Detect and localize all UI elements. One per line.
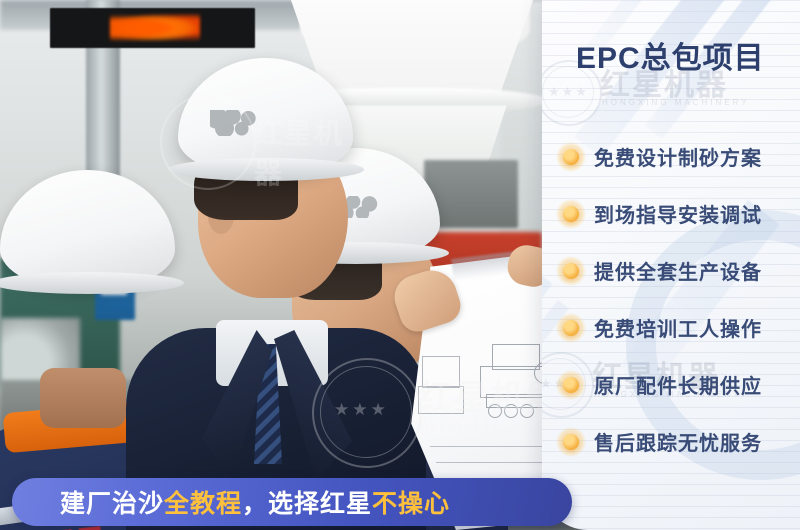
blueprint-guide-line <box>436 462 542 463</box>
list-item: 原厂配件长期供应 <box>556 356 800 413</box>
dot-bullet-icon <box>556 256 586 286</box>
list-item: 到场指导安装调试 <box>556 185 800 242</box>
dot-bullet-icon <box>556 427 586 457</box>
bottom-cta-banner: 建厂治沙全教程，选择红星不操心 <box>12 478 572 526</box>
banner-text: 建厂治沙全教程，选择红星不操心 <box>60 484 450 520</box>
feature-label: 售后跟踪无忧服务 <box>594 427 762 456</box>
blueprint-guide-line <box>430 446 550 447</box>
feature-label: 免费设计制砂方案 <box>594 142 762 171</box>
list-item: 免费培训工人操作 <box>556 299 800 356</box>
list-item: 售后跟踪无忧服务 <box>556 413 800 470</box>
worker-left-hard-hat <box>0 170 175 290</box>
photo-watermark-secondary: 红星机器 <box>160 94 350 224</box>
led-marquee-text <box>110 14 200 42</box>
banner-text-part2: ，选择红星 <box>242 490 372 518</box>
epc-services-panel: ★★★ 红星机器 HONGXING MACHINERY ★★★ 红星机器 HON… <box>542 0 800 530</box>
page-title: EPC总包项目 <box>576 42 796 75</box>
promo-banner-image: ★★★ 红星机器 HONGXING MACHINERY 红星机器 ★★★ 红星机… <box>0 0 800 530</box>
feature-label: 原厂配件长期供应 <box>594 370 762 399</box>
feature-label: 到场指导安装调试 <box>594 199 762 228</box>
list-item: 提供全套生产设备 <box>556 242 800 299</box>
dot-bullet-icon <box>556 142 586 172</box>
dot-bullet-icon <box>556 370 586 400</box>
banner-text-part1: 建厂治沙 <box>60 490 164 518</box>
list-item: 免费设计制砂方案 <box>556 128 800 185</box>
watermark-brand: 红星机器 <box>254 112 350 192</box>
banner-text-highlight1: 全教程 <box>164 490 242 518</box>
banner-text-highlight2: 不操心 <box>372 490 450 518</box>
blueprint-sketch-secondary <box>418 356 470 428</box>
feature-list: 免费设计制砂方案 到场指导安装调试 提供全套生产设备 免费培训工人操作 <box>556 128 800 470</box>
feature-label: 免费培训工人操作 <box>594 313 762 342</box>
feature-label: 提供全套生产设备 <box>594 256 762 285</box>
dot-bullet-icon <box>556 313 586 343</box>
dot-bullet-icon <box>556 199 586 229</box>
watermark-ring-icon <box>160 94 256 190</box>
